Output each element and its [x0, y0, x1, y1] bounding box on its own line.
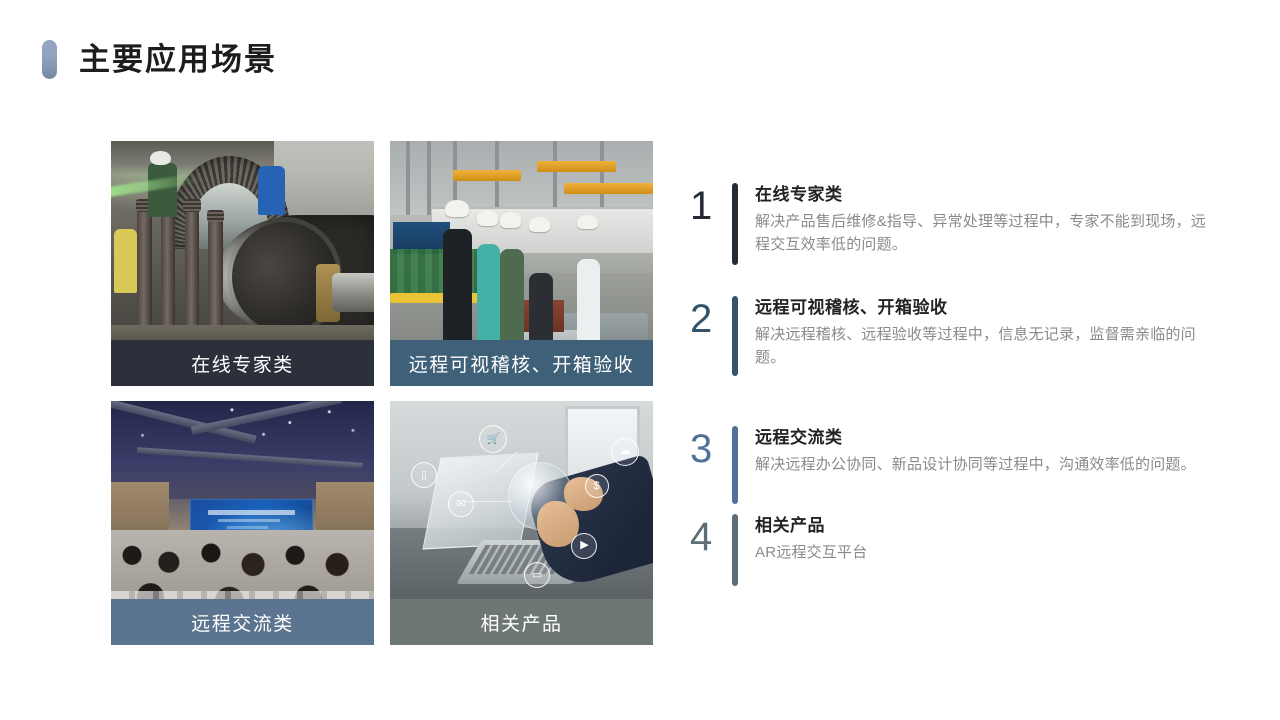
mail-icon: ✉: [448, 491, 474, 517]
feature-number: 4: [690, 509, 732, 557]
feature-accent-bar: [732, 183, 738, 265]
image-gallery: 在线专家类: [111, 141, 653, 645]
mobile-icon: ▯: [411, 462, 437, 488]
feature-description: 解决产品售后维修&指导、异常处理等过程中，专家不能到现场，远程交互效率低的问题。: [755, 210, 1210, 257]
feature-accent-bar: [732, 426, 738, 504]
feature-description: 解决远程稽核、远程验收等过程中，信息无记录，监督需亲临的问题。: [755, 323, 1210, 370]
feature-title: 相关产品: [755, 511, 1210, 536]
gallery-card-remote-meeting[interactable]: 远程交流类: [111, 401, 374, 645]
feature-item-3[interactable]: 3 远程交流类 解决远程办公协同、新品设计协同等过程中，沟通效率低的问题。: [690, 421, 1210, 509]
pill-bullet-icon: [42, 40, 57, 79]
gallery-card-online-expert[interactable]: 在线专家类: [111, 141, 374, 386]
feature-number: 2: [690, 291, 732, 339]
feature-item-1[interactable]: 1 在线专家类 解决产品售后维修&指导、异常处理等过程中，专家不能到现场，远程交…: [690, 178, 1210, 291]
cart-icon: 🛒: [479, 425, 507, 453]
gallery-caption: 远程交流类: [111, 599, 374, 645]
feature-description: 解决远程办公协同、新品设计协同等过程中，沟通效率低的问题。: [755, 453, 1210, 476]
gallery-card-remote-audit[interactable]: 远程可视稽核、开箱验收: [390, 141, 653, 386]
gallery-caption: 在线专家类: [111, 340, 374, 386]
monitor-icon: ▭: [524, 562, 550, 588]
feature-list: 1 在线专家类 解决产品售后维修&指导、异常处理等过程中，专家不能到现场，远程交…: [690, 178, 1210, 599]
page-title: 主要应用场景: [79, 44, 277, 75]
cloud-icon: ☁: [611, 438, 639, 466]
gallery-card-related-product[interactable]: 🛒 ☁ ✉ ▯ $ ▶ ▭ 相关产品: [390, 401, 653, 645]
feature-item-4[interactable]: 4 相关产品 AR远程交互平台: [690, 509, 1210, 599]
feature-accent-bar: [732, 514, 738, 586]
feature-accent-bar: [732, 296, 738, 376]
feature-title: 在线专家类: [755, 180, 1210, 205]
feature-item-2[interactable]: 2 远程可视稽核、开箱验收 解决远程稽核、远程验收等过程中，信息无记录，监督需亲…: [690, 291, 1210, 421]
feature-title: 远程可视稽核、开箱验收: [755, 293, 1210, 318]
dollar-icon: $: [585, 474, 609, 498]
feature-number: 1: [690, 178, 732, 226]
feature-number: 3: [690, 421, 732, 469]
feature-title: 远程交流类: [755, 423, 1210, 448]
slide-header: 主要应用场景: [42, 40, 277, 79]
gallery-caption: 远程可视稽核、开箱验收: [390, 340, 653, 386]
gallery-caption: 相关产品: [390, 599, 653, 645]
feature-description: AR远程交互平台: [755, 541, 1210, 564]
